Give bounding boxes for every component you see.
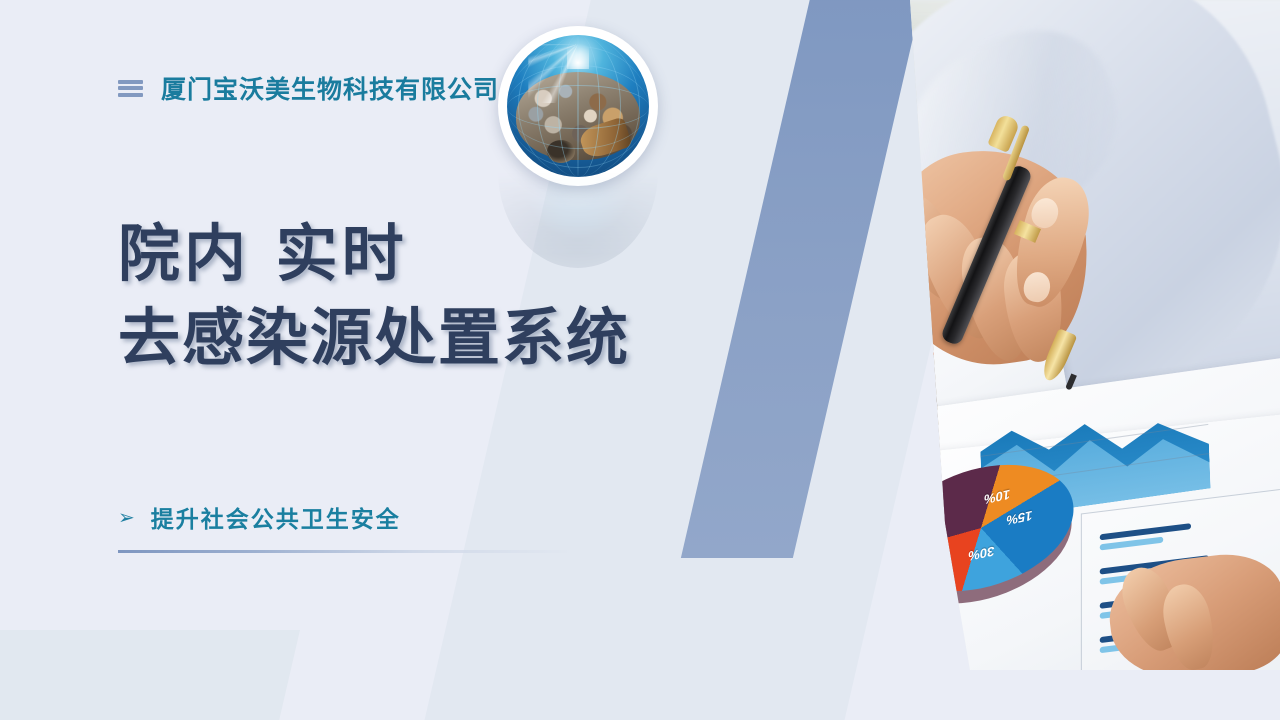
page-title: 院内 实时 去感染源处置系统 — [118, 212, 758, 380]
brand-row: 厦门宝沃美生物科技有限公司 — [118, 70, 499, 106]
presentation-slide: 10% 15% 30% 20% 25% — [0, 0, 1280, 720]
hamburger-menu-icon[interactable] — [118, 80, 143, 97]
slide-content: 厦门宝沃美生物科技有限公司 — [0, 0, 1280, 720]
company-name: 厦门宝沃美生物科技有限公司 — [161, 70, 499, 106]
subtitle-row: ➢ 提升社会公共卫生安全 — [118, 500, 401, 534]
arrow-bullet-icon: ➢ — [118, 508, 135, 528]
title-line-1: 院内 实时 — [118, 212, 758, 296]
globe-icon — [507, 35, 649, 177]
title-divider — [118, 550, 573, 553]
globe-highlight — [567, 38, 590, 69]
title-line-2: 去感染源处置系统 — [118, 296, 758, 380]
subtitle-text: 提升社会公共卫生安全 — [151, 500, 401, 534]
polluted-earth-globe-logo — [498, 26, 658, 186]
globe-pipe — [547, 140, 575, 163]
